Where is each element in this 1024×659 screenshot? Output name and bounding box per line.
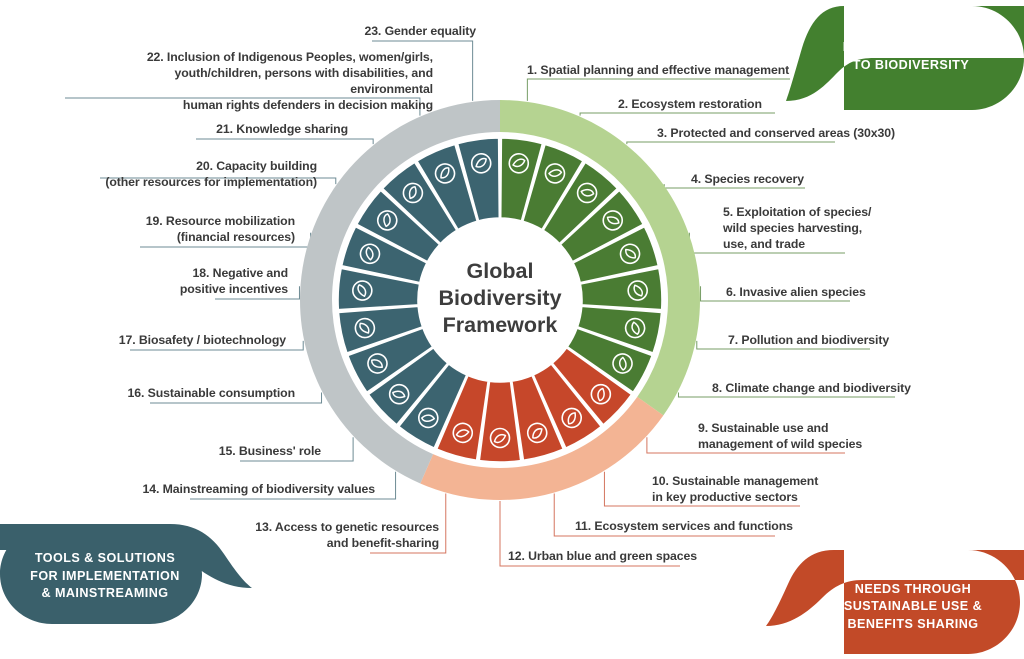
connector-2 — [580, 113, 775, 116]
target-label-5: 5. Exploitation of species/ wild species… — [723, 205, 871, 253]
target-label-2: 2. Ecosystem restoration — [618, 97, 762, 113]
target-label-11: 11. Ecosystem services and functions — [575, 519, 793, 535]
page-title: Global Biodiversity Framework — [410, 258, 590, 339]
target-label-16: 16. Sustainable consumption — [95, 386, 295, 402]
target-label-4: 4. Species recovery — [691, 172, 804, 188]
target-label-7: 7. Pollution and biodiversity — [728, 333, 889, 349]
target-label-15: 15. Business' role — [151, 444, 321, 460]
target-label-6: 6. Invasive alien species — [726, 285, 866, 301]
connector-21 — [196, 139, 373, 144]
target-label-17: 17. Biosafety / biotechnology — [96, 333, 286, 349]
target-label-21: 21. Knowledge sharing — [168, 122, 348, 138]
badge-tools-solutions: TOOLS & SOLUTIONS FOR IMPLEMENTATION & M… — [0, 524, 252, 640]
target-label-9: 9. Sustainable use and management of wil… — [698, 421, 862, 453]
target-label-8: 8. Climate change and biodiversity — [712, 381, 911, 397]
target-label-20: 20. Capacity building (other resources f… — [79, 159, 317, 191]
target-label-10: 10. Sustainable management in key produc… — [652, 474, 818, 506]
target-label-1: 1. Spatial planning and effective manage… — [527, 63, 789, 79]
badge-text-meeting-needs: MEETING PEOPLE'S NEEDS THROUGH SUSTAINAB… — [824, 563, 1002, 634]
target-label-14: 14. Mainstreaming of biodiversity values — [98, 482, 375, 498]
infographic-canvas: Global Biodiversity Framework 1. Spatial… — [0, 0, 1024, 654]
target-label-19: 19. Resource mobilization (financial res… — [110, 214, 295, 246]
badge-reducing-threats: REDUCING THREATS TO BIODIVERSITY — [786, 6, 1024, 110]
target-label-3: 3. Protected and conserved areas (30x30) — [657, 126, 895, 142]
target-label-18: 18. Negative and positive incentives — [128, 266, 288, 298]
target-label-22: 22. Inclusion of Indigenous Peoples, wom… — [96, 50, 433, 114]
connector-3 — [627, 142, 835, 144]
badge-text-tools-solutions: TOOLS & SOLUTIONS FOR IMPLEMENTATION & M… — [10, 550, 200, 603]
target-label-12: 12. Urban blue and green spaces — [508, 549, 697, 565]
badge-meeting-needs: MEETING PEOPLE'S NEEDS THROUGH SUSTAINAB… — [766, 550, 1024, 654]
target-label-23: 23. Gender equality — [316, 24, 476, 40]
badge-text-reducing-threats: REDUCING THREATS TO BIODIVERSITY — [818, 39, 1004, 74]
